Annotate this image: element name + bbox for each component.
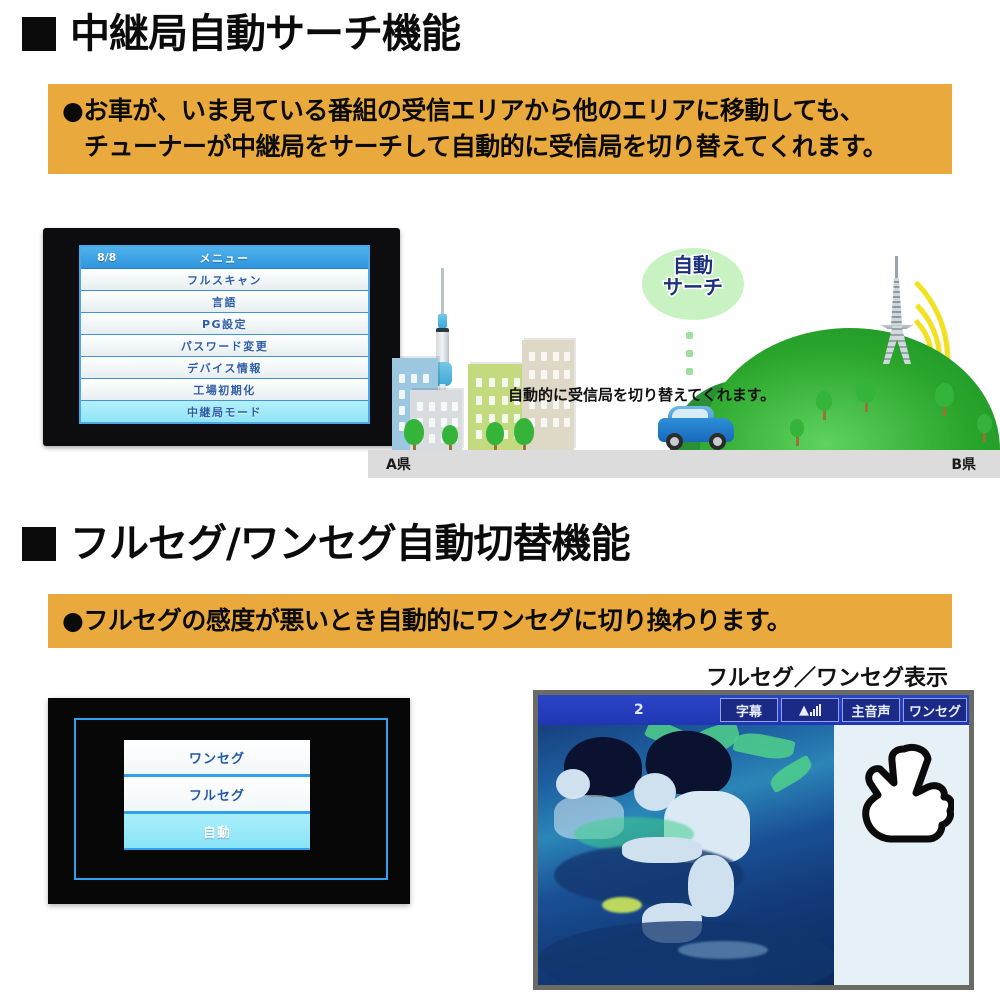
section1-banner-line1: ●お車が、いま見ている番組の受信エリアから他のエリアに移動しても、 bbox=[62, 93, 938, 129]
menu-item-label: 中継局モード bbox=[187, 404, 262, 420]
section1-banner-line2: チューナーが中継局をサーチして自動的に受信局を切り替えてくれます。 bbox=[62, 129, 938, 165]
tree-icon bbox=[514, 418, 534, 454]
tv-display-label: フルセグ／ワンセグ表示 bbox=[706, 660, 948, 692]
menu-header-label: メニュー bbox=[200, 250, 250, 266]
menu-item-label: フルスキャン bbox=[187, 272, 262, 288]
black-square-icon bbox=[22, 527, 56, 561]
tv-status-bar: 2 字幕 ▲ 主音声 ワンセグ bbox=[538, 695, 969, 725]
segment-item-label: 自動 bbox=[203, 822, 231, 841]
section1-title: 中継局自動サーチ機能 bbox=[70, 14, 460, 54]
channel-number: 2 bbox=[634, 702, 644, 718]
segment-item-label: ワンセグ bbox=[189, 748, 245, 767]
segment-item-oneseg[interactable]: ワンセグ bbox=[124, 740, 310, 777]
menu-item-password-change[interactable]: パスワード変更 bbox=[81, 335, 368, 357]
car-icon bbox=[658, 406, 734, 450]
scene-caption: 自動的に受信局を切り替えてくれます。 bbox=[508, 384, 775, 405]
auto-search-line1: 自動 bbox=[642, 254, 744, 276]
tree-icon bbox=[856, 377, 876, 412]
menu-item-label: 工場初期化 bbox=[193, 382, 256, 398]
section2-banner: ●フルセグの感度が悪いとき自動的にワンセグに切り換わります。 bbox=[48, 594, 952, 648]
status-chip-oneseg[interactable]: ワンセグ bbox=[903, 698, 967, 722]
menu-item-pg-settings[interactable]: PG設定 bbox=[81, 313, 368, 335]
segment-item-fullseg[interactable]: フルセグ bbox=[124, 777, 310, 814]
menu-item-label: パスワード変更 bbox=[181, 338, 269, 354]
broadcast-photo bbox=[538, 725, 834, 985]
segment-menu: ワンセグ フルセグ 自動 bbox=[124, 740, 310, 850]
menu-header-row: 8/8 メニュー bbox=[81, 247, 368, 269]
segment-item-label: フルセグ bbox=[189, 785, 245, 804]
area-label-left: A県 bbox=[386, 454, 411, 474]
tree-icon bbox=[935, 383, 954, 416]
tv-screen: 2 字幕 ▲ 主音声 ワンセグ bbox=[538, 695, 969, 985]
section2-banner-line1: ●フルセグの感度が悪いとき自動的にワンセグに切り換わります。 bbox=[62, 603, 791, 639]
tree-icon bbox=[790, 419, 804, 446]
menu-item-fullscan[interactable]: フルスキャン bbox=[81, 269, 368, 291]
signal-bars-icon[interactable]: ▲ bbox=[781, 698, 839, 722]
menu-item-relay-mode[interactable]: 中継局モード bbox=[81, 401, 368, 422]
segment-monitor: ワンセグ フルセグ 自動 bbox=[48, 698, 410, 904]
menu-item-device-info[interactable]: デバイス情報 bbox=[81, 357, 368, 379]
menu-monitor: 8/8 メニュー フルスキャン 言語 PG設定 パスワード変更 デバイス情報 工… bbox=[43, 228, 400, 446]
tree-icon bbox=[977, 414, 992, 442]
section1-banner: ●お車が、いま見ている番組の受信エリアから他のエリアに移動しても、 チューナーが… bbox=[48, 84, 952, 174]
segment-item-auto[interactable]: 自動 bbox=[124, 814, 310, 850]
auto-search-line2: サーチ bbox=[642, 276, 744, 298]
infographic-page: 中継局自動サーチ機能 ●お車が、いま見ている番組の受信エリアから他のエリアに移動… bbox=[0, 0, 1000, 1000]
status-chip-group: 字幕 ▲ 主音声 ワンセグ bbox=[720, 698, 967, 722]
menu-screen: 8/8 メニュー フルスキャン 言語 PG設定 パスワード変更 デバイス情報 工… bbox=[79, 245, 370, 424]
menu-item-label: PG設定 bbox=[202, 316, 247, 332]
tree-icon bbox=[816, 391, 832, 420]
menu-item-language[interactable]: 言語 bbox=[81, 291, 368, 313]
tv-monitor: 2 字幕 ▲ 主音声 ワンセグ bbox=[533, 690, 974, 990]
black-square-icon bbox=[22, 17, 56, 51]
ground-strip bbox=[368, 450, 1000, 478]
menu-item-label: デバイス情報 bbox=[187, 360, 262, 376]
signal-bars-glyph bbox=[810, 704, 821, 716]
dotted-connector bbox=[686, 332, 693, 386]
page-indicator: 8/8 bbox=[97, 251, 116, 264]
section1-heading: 中継局自動サーチ機能 bbox=[22, 14, 460, 54]
tree-icon bbox=[404, 419, 424, 454]
status-chip-main-audio[interactable]: 主音声 bbox=[842, 698, 900, 722]
section2-heading: フルセグ/ワンセグ自動切替機能 bbox=[22, 524, 630, 564]
pointing-hand-icon bbox=[858, 743, 954, 851]
auto-search-label: 自動 サーチ bbox=[642, 254, 744, 299]
status-chip-subtitle[interactable]: 字幕 bbox=[720, 698, 778, 722]
tv-side-panel bbox=[834, 725, 969, 985]
transmission-tower-icon bbox=[880, 256, 914, 364]
section2-title: フルセグ/ワンセグ自動切替機能 bbox=[70, 524, 630, 564]
menu-item-label: 言語 bbox=[212, 294, 237, 310]
relay-search-illustration: 自動 サーチ bbox=[368, 236, 1000, 486]
area-label-right: B県 bbox=[951, 454, 976, 474]
menu-item-factory-reset[interactable]: 工場初期化 bbox=[81, 379, 368, 401]
